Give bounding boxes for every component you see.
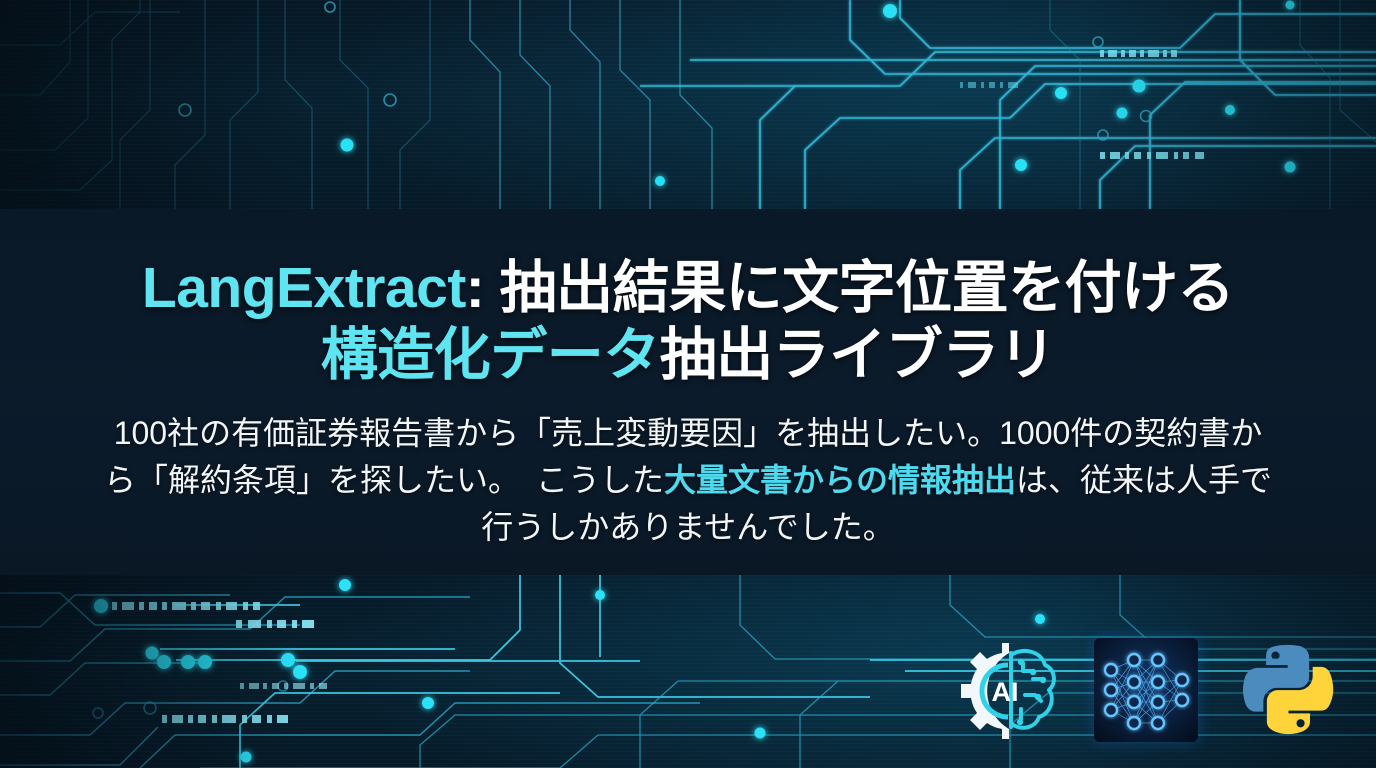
title-line-2-accent: 構造化データ <box>321 323 660 387</box>
title-line-1-text: 抽出結果に文字位置を付ける <box>500 256 1235 320</box>
neural-network-glyph <box>1094 638 1198 742</box>
python-logo-glyph <box>1232 638 1336 742</box>
neural-network-icon <box>1090 634 1202 746</box>
subtitle-paragraph: 100社の有価証券報告書から「売上変動要因」を抽出したい。1000件の契約書から… <box>98 410 1278 550</box>
circuit-traces-top <box>0 0 1376 209</box>
ai-label: AI <box>992 677 1019 707</box>
subtitle-highlight: 大量文書からの情報抽出 <box>664 462 1016 498</box>
ai-brain-gear-glyph: AI <box>953 635 1063 745</box>
title-line-2: 構造化データ抽出ライブラリ <box>38 322 1338 389</box>
top-circuit-background <box>0 0 1376 209</box>
page-title: LangExtract: 抽出結果に文字位置を付ける 構造化データ抽出ライブラリ <box>38 255 1338 388</box>
ai-brain-gear-icon: AI <box>952 634 1064 746</box>
technology-logo-row: AI <box>952 634 1340 746</box>
title-separator: : <box>466 256 500 320</box>
brand-name: LangExtract <box>142 256 466 320</box>
python-logo-icon <box>1228 634 1340 746</box>
content-panel: LangExtract: 抽出結果に文字位置を付ける 構造化データ抽出ライブラリ… <box>0 209 1376 575</box>
slide-canvas: LangExtract: 抽出結果に文字位置を付ける 構造化データ抽出ライブラリ… <box>0 0 1376 768</box>
title-line-2-text: 抽出ライブラリ <box>660 323 1056 387</box>
title-line-1: LangExtract: 抽出結果に文字位置を付ける <box>38 255 1338 322</box>
